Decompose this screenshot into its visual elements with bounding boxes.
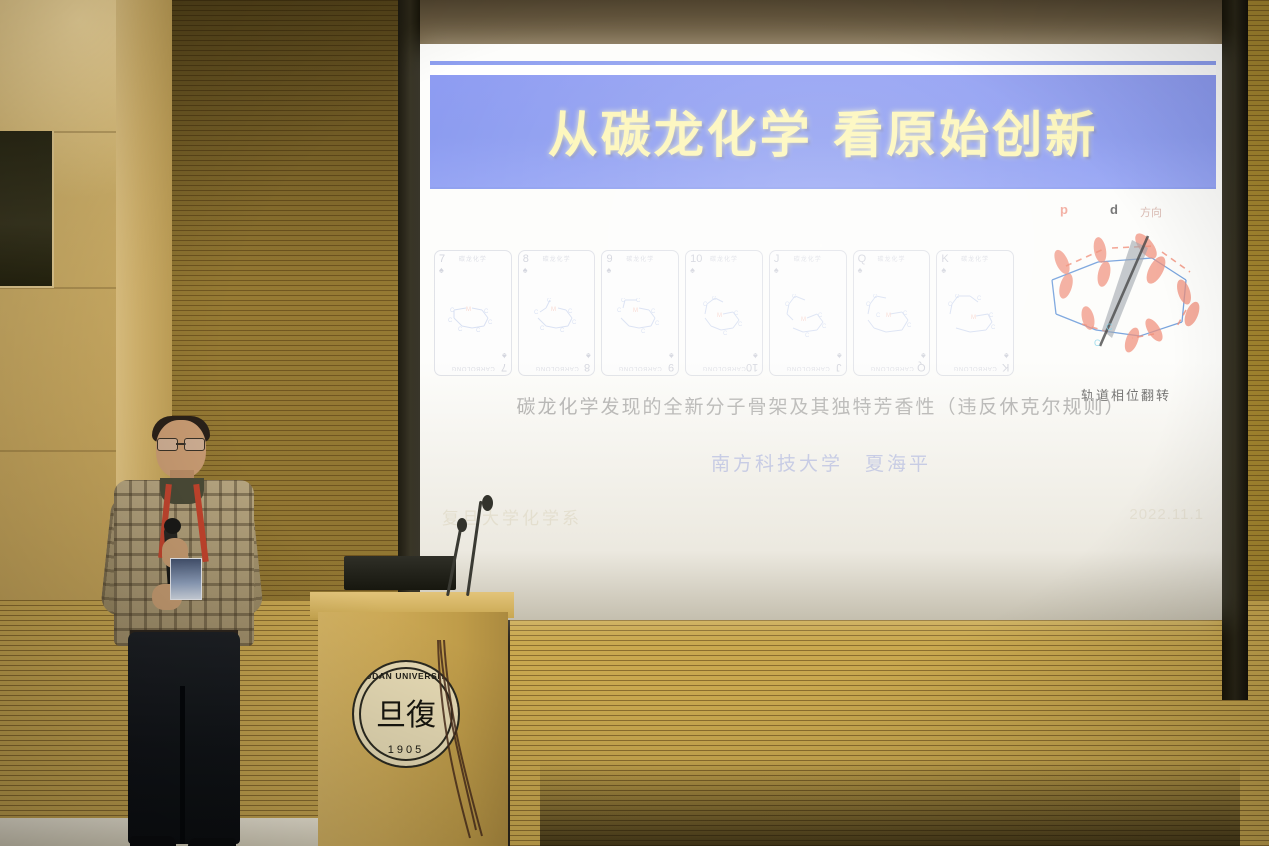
- svg-text:C: C: [458, 327, 463, 333]
- eyeglasses-icon: [157, 438, 205, 450]
- dark-column-right: [1222, 0, 1248, 700]
- card-rank: 8: [584, 361, 590, 372]
- svg-text:M: M: [717, 313, 722, 319]
- wall-above-screen: [420, 0, 1222, 44]
- orbital-svg: C C: [1036, 218, 1216, 383]
- svg-text:C: C: [560, 328, 565, 334]
- card-rank: Q: [917, 361, 926, 372]
- card-rank: 10: [746, 361, 758, 372]
- slide-caption-author: 南方科技大学 夏海平: [420, 449, 1222, 476]
- svg-text:C: C: [948, 302, 953, 308]
- conference-badge: [170, 558, 202, 600]
- card-footer-text: CARBOLONG: [602, 365, 678, 371]
- card-footer-text: CARBOLONG: [435, 365, 511, 371]
- svg-text:C: C: [568, 309, 573, 315]
- card-rank: K: [1002, 361, 1009, 372]
- slide-caption-date: 2022.11.1: [1129, 506, 1204, 523]
- playing-card: Q ♠ 碳龙化学 C C C M C C: [853, 250, 931, 376]
- card-header-text: 碳龙化学: [519, 254, 595, 263]
- svg-text:C: C: [822, 324, 827, 330]
- orbital-label-d: d: [1110, 202, 1118, 217]
- svg-text:C: C: [655, 321, 660, 327]
- spade-icon: ♠: [669, 351, 674, 360]
- speaker-shoe-right: [188, 838, 236, 846]
- molecule-svg: C C C M C C: [860, 294, 922, 346]
- svg-text:C: C: [792, 294, 797, 300]
- floor-shadow: [540, 760, 1240, 846]
- glasses-right-lens: [184, 438, 205, 451]
- svg-text:M: M: [801, 317, 806, 323]
- speaker-leg-gap: [180, 686, 185, 844]
- projection-screen: 从碳龙化学 看原始创新 7 ♠ 碳龙化学 C M: [420, 44, 1222, 620]
- speaker-person: [100, 418, 270, 846]
- playing-card: 10 ♠ 碳龙化学 C C M C C C: [685, 250, 763, 376]
- svg-text:C: C: [907, 323, 912, 329]
- molecule-diagram: C C C M C C C: [602, 291, 678, 349]
- molecule-diagram: C C M C C C: [686, 291, 762, 349]
- svg-text:C: C: [818, 313, 823, 319]
- molecule-diagram: C C M C C C: [770, 291, 846, 349]
- playing-card: 9 ♠ 碳龙化学 C C C M C C: [601, 250, 679, 376]
- card-footer-text: CARBOLONG: [770, 365, 846, 371]
- card-header-text: 碳龙化学: [435, 254, 511, 263]
- presentation-slide: 从碳龙化学 看原始创新 7 ♠ 碳龙化学 C M: [420, 44, 1222, 620]
- molecule-diagram: C M C C C C C: [435, 291, 511, 349]
- svg-text:C: C: [651, 309, 656, 315]
- svg-text:C: C: [488, 320, 493, 326]
- svg-text:C: C: [450, 308, 455, 314]
- svg-text:C: C: [641, 329, 646, 335]
- svg-text:C: C: [805, 333, 810, 339]
- svg-text:C: C: [723, 331, 728, 337]
- svg-text:C: C: [540, 326, 545, 332]
- molecule-svg: C C M C C C C: [526, 294, 588, 346]
- svg-text:C: C: [1106, 322, 1113, 332]
- orbital-phase-figure: p d 方向: [1036, 202, 1216, 402]
- glasses-left-lens: [157, 438, 178, 451]
- title-banner: 从碳龙化学 看原始创新: [430, 61, 1216, 189]
- svg-text:C: C: [955, 294, 960, 300]
- svg-text:C: C: [738, 322, 743, 328]
- card-header-text: 碳龙化学: [770, 254, 846, 263]
- svg-text:C: C: [484, 309, 489, 315]
- playing-card: 8 ♠ 碳龙化学 C C M C C C: [518, 250, 596, 376]
- spade-icon: ♠: [606, 266, 611, 275]
- svg-text:C: C: [991, 325, 996, 331]
- card-rank: 7: [501, 361, 507, 372]
- lecture-hall-scene: 从碳龙化学 看原始创新 7 ♠ 碳龙化学 C M: [0, 0, 1269, 846]
- spade-icon: ♠: [523, 266, 528, 275]
- orbital-label-p: p: [1060, 202, 1068, 217]
- svg-text:C: C: [534, 310, 539, 316]
- slide-title: 从碳龙化学 看原始创新: [548, 95, 1098, 167]
- spade-icon: ♠: [837, 351, 842, 360]
- spade-icon: ♠: [1004, 351, 1009, 360]
- svg-text:C: C: [448, 318, 453, 324]
- svg-text:M: M: [971, 315, 976, 321]
- svg-text:C: C: [873, 294, 878, 300]
- svg-text:C: C: [734, 311, 739, 317]
- slide-caption-main: 碳龙化学发现的全新分子骨架及其独特芳香性（违反休克尔规则）: [420, 392, 1222, 419]
- molecule-svg: C M C C C C C: [442, 294, 504, 346]
- svg-text:C: C: [785, 302, 790, 308]
- card-header-text: 碳龙化学: [686, 254, 762, 263]
- svg-text:C: C: [572, 320, 577, 326]
- svg-text:C: C: [617, 308, 622, 314]
- svg-text:C: C: [866, 302, 871, 308]
- svg-text:M: M: [466, 307, 471, 313]
- spade-icon: ♠: [690, 266, 695, 275]
- spade-icon: ♠: [774, 266, 779, 275]
- spade-icon: ♠: [439, 266, 444, 275]
- molecule-diagram: C C M C C C C: [519, 291, 595, 349]
- card-header-text: 碳龙化学: [937, 254, 1013, 263]
- spade-icon: ♠: [586, 351, 591, 360]
- speaker-shoe-left: [130, 836, 176, 846]
- card-rank: J: [836, 361, 842, 372]
- card-header-text: 碳龙化学: [602, 254, 678, 263]
- molecule-svg: C C C M C C C: [609, 294, 671, 346]
- svg-text:C: C: [1094, 338, 1101, 348]
- spade-icon: ♠: [502, 351, 507, 360]
- playing-card: 7 ♠ 碳龙化学 C M C C C C: [434, 250, 512, 376]
- molecule-svg: C C C M C C: [944, 294, 1006, 346]
- svg-text:M: M: [633, 308, 638, 314]
- svg-text:C: C: [636, 298, 641, 304]
- playing-card: J ♠ 碳龙化学 C C M C C C: [769, 250, 847, 376]
- spade-icon: ♠: [921, 351, 926, 360]
- seal-glyph: 旦復: [376, 701, 436, 731]
- card-header-text: 碳龙化学: [854, 254, 930, 263]
- spade-icon: ♠: [753, 351, 758, 360]
- title-banner-fill: 从碳龙化学 看原始创新: [430, 75, 1216, 187]
- podium-microphone-head: [457, 518, 467, 532]
- svg-text:C: C: [903, 311, 908, 317]
- molecule-diagram: C C C M C C: [854, 291, 930, 349]
- svg-text:C: C: [476, 328, 481, 334]
- recessed-wall-panel: [0, 131, 54, 288]
- molecule-svg: C C M C C C: [693, 294, 755, 346]
- molecule-diagram: C C C M C C: [937, 291, 1013, 349]
- svg-text:C: C: [712, 296, 717, 302]
- card-row: 7 ♠ 碳龙化学 C M C C C C: [434, 250, 1014, 380]
- molecule-svg: C C M C C C: [777, 294, 839, 346]
- podium-microphone-head: [482, 495, 493, 511]
- svg-text:C: C: [703, 302, 708, 308]
- svg-text:M: M: [551, 307, 556, 313]
- handheld-microphone-head: [164, 518, 181, 534]
- playing-card: K ♠ 碳龙化学 C C C M C C: [936, 250, 1014, 376]
- svg-text:C: C: [621, 298, 626, 304]
- svg-text:C: C: [876, 313, 881, 319]
- svg-text:C: C: [547, 298, 552, 304]
- spade-icon: ♠: [858, 266, 863, 275]
- podium-monitor: [344, 556, 456, 590]
- svg-text:C: C: [977, 296, 982, 302]
- svg-text:M: M: [886, 313, 891, 319]
- svg-text:C: C: [989, 313, 994, 319]
- spade-icon: ♠: [941, 266, 946, 275]
- card-rank: 9: [668, 361, 674, 372]
- hanging-cables: [430, 640, 490, 840]
